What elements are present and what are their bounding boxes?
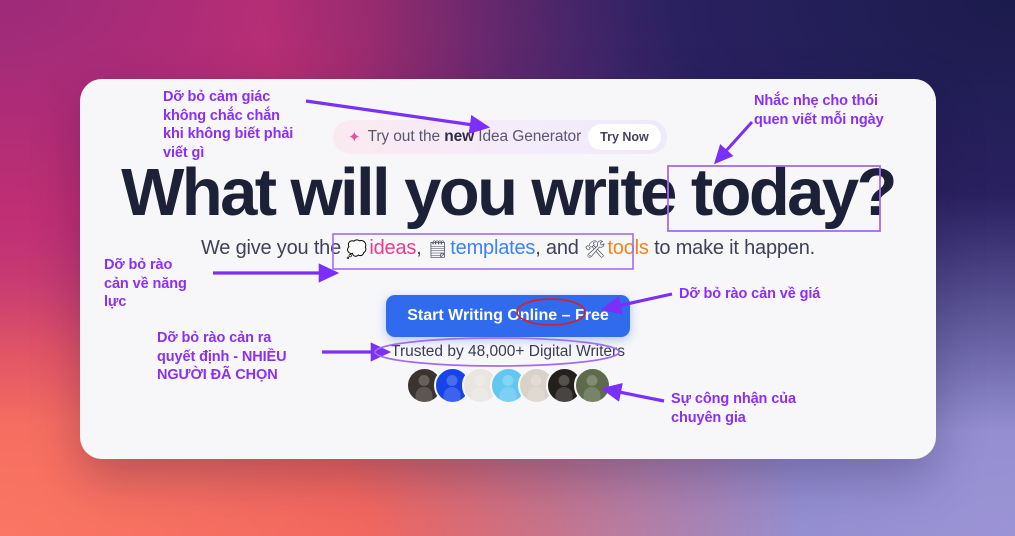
start-writing-button[interactable]: Start Writing Online – Free [386, 295, 630, 337]
annotation-line: NGƯỜI ĐÃ CHỌN [157, 366, 287, 385]
annotation-decision: Dỡ bỏ rào cản raquyết định - NHIỀUNGƯỜI … [157, 329, 287, 385]
annotation-line: Dỡ bỏ rào [104, 256, 187, 275]
subtitle-prefix: We give you the [201, 237, 341, 259]
announcement-pill[interactable]: ✦ Try out the new Idea Generator Try Now [333, 120, 667, 154]
announcement-text-bold: new [444, 128, 474, 145]
try-now-button[interactable]: Try Now [588, 124, 661, 150]
annotation-line: Sự công nhận của [671, 390, 796, 409]
annotation-expert-proof: Sự công nhận củachuyên gia [671, 390, 796, 427]
screenshot-stage: ✦ Try out the new Idea Generator Try Now… [0, 0, 1015, 536]
annotation-price: Dỡ bỏ rào cản về giá [679, 285, 820, 304]
avatar [574, 367, 611, 404]
annotation-line: Nhắc nhẹ cho thói [754, 92, 884, 111]
announcement-text: Try out the new Idea Generator [368, 128, 582, 146]
annotation-line: khi không biết phải [163, 125, 293, 144]
annotation-line: không chắc chắn [163, 107, 293, 126]
announcement-text-before: Try out the [368, 128, 445, 145]
keyword-templates: templates [450, 237, 535, 259]
sparkle-icon: ✦ [348, 130, 361, 145]
subtitle-sep-1: , [416, 237, 421, 259]
announcement-text-after: Idea Generator [474, 128, 581, 145]
headline-highlight: today? [691, 155, 895, 230]
annotation-line: viết gì [163, 144, 293, 163]
keyword-tools: tools [607, 237, 648, 259]
annotation-line: Dỡ bỏ rào cản ra [157, 329, 287, 348]
tools-icon: 🛠 [584, 240, 605, 259]
annotation-uncertainty: Dỡ bỏ cảm giáckhông chắc chắnkhi không b… [163, 88, 293, 162]
annotation-line: quen viết mỗi ngày [754, 111, 884, 130]
thought-bubble-icon: 💭 [346, 240, 367, 259]
annotation-line: quyết định - NHIỀU [157, 348, 287, 367]
annotation-line: lực [104, 293, 187, 312]
keyword-ideas: ideas [369, 237, 416, 259]
note-card-icon: 🗒 [427, 240, 448, 259]
annotation-capability: Dỡ bỏ ràocản về nănglực [104, 256, 187, 312]
subtitle-suffix: to make it happen. [654, 237, 815, 259]
headline-text: What will you write [121, 155, 691, 230]
annotation-daily-habit: Nhắc nhẹ cho thóiquen viết mỗi ngày [754, 92, 884, 129]
hero-subtitle: We give you the 💭ideas, 🗒templates, and … [80, 237, 936, 260]
annotation-line: Dỡ bỏ cảm giác [163, 88, 293, 107]
annotation-line: chuyên gia [671, 409, 796, 428]
page-title: What will you write today? [80, 159, 936, 226]
annotation-line: Dỡ bỏ rào cản về giá [679, 285, 820, 304]
subtitle-sep-2: , and [535, 237, 578, 259]
annotation-line: cản về năng [104, 275, 187, 294]
